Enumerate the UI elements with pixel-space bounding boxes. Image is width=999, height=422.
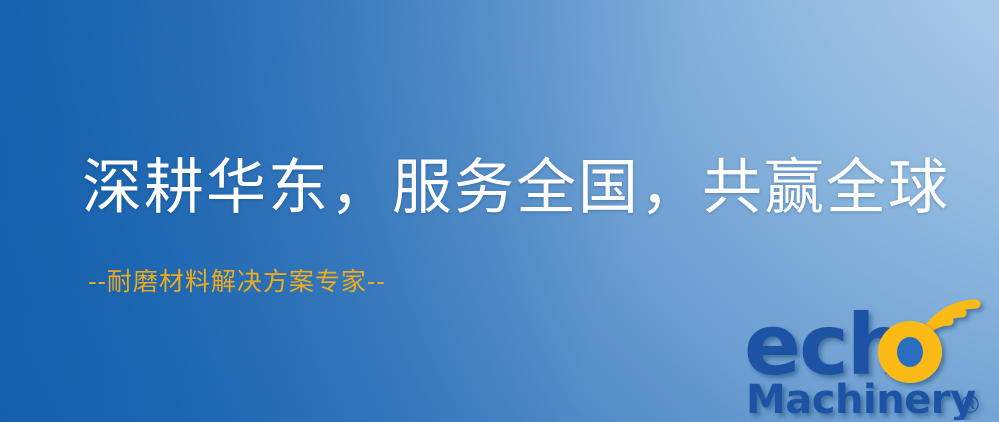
page-subtitle: --耐磨材料解决方案专家-- bbox=[88, 266, 386, 298]
registered-trademark-icon: ® bbox=[958, 391, 982, 419]
page-title: 深耕华东，服务全国，共赢全球 bbox=[82, 152, 950, 224]
logo-tagline: Machinery bbox=[746, 377, 976, 420]
hero-banner: 深耕华东，服务全国，共赢全球 --耐磨材料解决方案专家-- ech bbox=[0, 0, 999, 422]
echo-machinery-logo[interactable]: ech Machinery ® bbox=[744, 296, 996, 420]
logo-letter-o bbox=[878, 321, 942, 383]
